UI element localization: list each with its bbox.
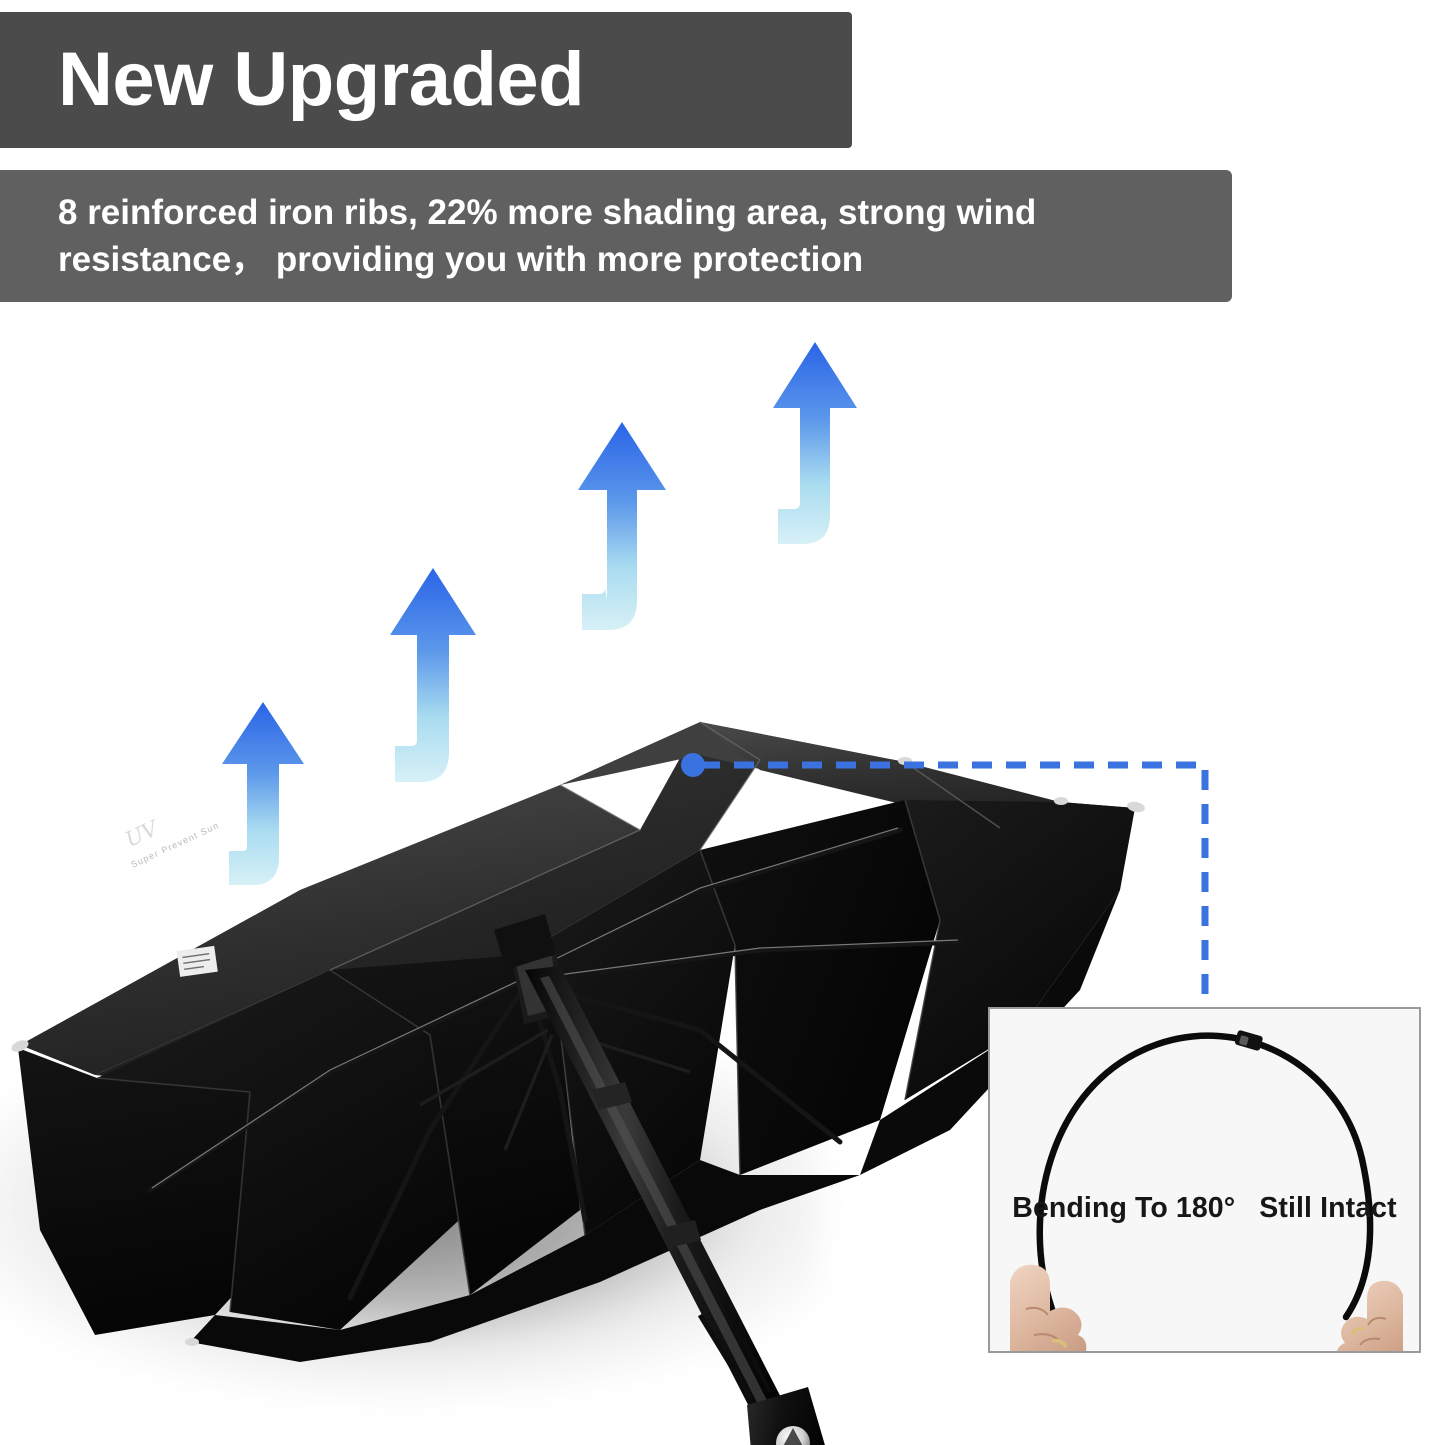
bending-demo-illustration — [990, 1009, 1421, 1353]
airflow-arrow-4 — [773, 342, 857, 544]
product-photo-stage: UV Super Prevent Sun — [0, 330, 1445, 1445]
airflow-arrow-1 — [222, 702, 304, 885]
canopy-uv-logo-text: UV — [122, 815, 164, 851]
callout-anchor-dot — [681, 753, 705, 777]
canopy-uv-logo: UV Super Prevent Sun — [116, 792, 221, 870]
headline-text: New Upgraded — [0, 42, 584, 118]
inset-caption: Bending To 180° Still Intact — [990, 1192, 1419, 1225]
airflow-arrow-2 — [390, 568, 476, 782]
airflow-arrow-3 — [578, 422, 666, 630]
headline-band: New Upgraded — [0, 12, 852, 148]
care-label-tag — [177, 946, 218, 977]
subtitle-text: 8 reinforced iron ribs, 22% more shading… — [0, 189, 1232, 284]
subtitle-band: 8 reinforced iron ribs, 22% more shading… — [0, 170, 1232, 302]
bending-demo-inset: Bending To 180° Still Intact — [988, 1007, 1421, 1353]
